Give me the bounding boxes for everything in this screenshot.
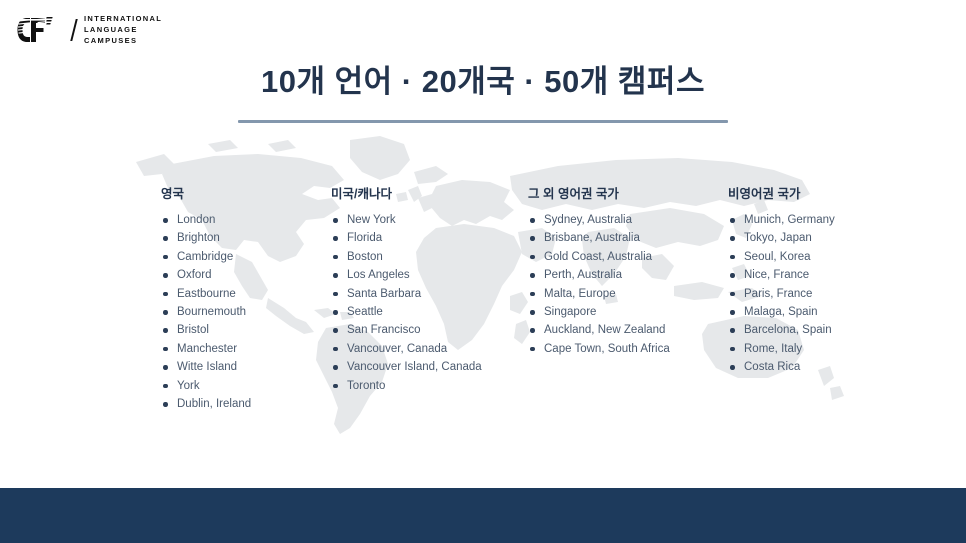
logo-line-3: CAMPUSES: [84, 36, 162, 46]
list-item: Paris, France: [728, 285, 835, 303]
list-item: Cambridge: [161, 248, 251, 266]
campus-column-other-english: 그 외 영어권 국가 Sydney, Australia Brisbane, A…: [528, 186, 670, 358]
list-item: San Francisco: [331, 321, 482, 339]
list-item: Dublin, Ireland: [161, 395, 251, 413]
list-item: London: [161, 211, 251, 229]
list-item: Nice, France: [728, 266, 835, 284]
list-item: Bournemouth: [161, 303, 251, 321]
brand-logo: INTERNATIONAL LANGUAGE CAMPUSES: [16, 12, 162, 48]
title-underline-rule: [238, 120, 728, 123]
list-item: York: [161, 377, 251, 395]
list-item: Brisbane, Australia: [528, 229, 670, 247]
list-item: Manchester: [161, 340, 251, 358]
list-item: Rome, Italy: [728, 340, 835, 358]
list-item: Auckland, New Zealand: [528, 321, 670, 339]
logo-line-1: INTERNATIONAL: [84, 14, 162, 24]
list-item: Brighton: [161, 229, 251, 247]
campus-list: Sydney, Australia Brisbane, Australia Go…: [528, 211, 670, 358]
campus-column-non-english: 비영어권 국가 Munich, Germany Tokyo, Japan Seo…: [728, 186, 835, 377]
campus-list: Munich, Germany Tokyo, Japan Seoul, Kore…: [728, 211, 835, 377]
campus-list: London Brighton Cambridge Oxford Eastbou…: [161, 211, 251, 413]
campus-list: New York Florida Boston Los Angeles Sant…: [331, 211, 482, 395]
list-item: Oxford: [161, 266, 251, 284]
list-item: Florida: [331, 229, 482, 247]
list-item: Vancouver Island, Canada: [331, 358, 482, 376]
list-item: Munich, Germany: [728, 211, 835, 229]
column-heading: 그 외 영어권 국가: [528, 186, 670, 202]
list-item: Singapore: [528, 303, 670, 321]
list-item: Gold Coast, Australia: [528, 248, 670, 266]
list-item: Boston: [331, 248, 482, 266]
column-heading: 영국: [161, 186, 251, 202]
list-item: Eastbourne: [161, 285, 251, 303]
list-item: Bristol: [161, 321, 251, 339]
campus-column-usa-canada: 미국/캐나다 New York Florida Boston Los Angel…: [331, 186, 482, 395]
slide-canvas: INTERNATIONAL LANGUAGE CAMPUSES 10개 언어 ·…: [0, 0, 966, 543]
column-heading: 미국/캐나다: [331, 186, 482, 202]
list-item: Seoul, Korea: [728, 248, 835, 266]
list-item: Santa Barbara: [331, 285, 482, 303]
logo-line-2: LANGUAGE: [84, 25, 162, 35]
campus-column-uk: 영국 London Brighton Cambridge Oxford East…: [161, 186, 251, 413]
ef-monogram-icon: [16, 16, 62, 44]
list-item: Los Angeles: [331, 266, 482, 284]
list-item: Cape Town, South Africa: [528, 340, 670, 358]
list-item: Seattle: [331, 303, 482, 321]
page-title: 10개 언어 · 20개국 · 50개 캠퍼스: [0, 62, 966, 102]
list-item: Barcelona, Spain: [728, 321, 835, 339]
list-item: Malta, Europe: [528, 285, 670, 303]
list-item: Tokyo, Japan: [728, 229, 835, 247]
title-section: 10개 언어 · 20개국 · 50개 캠퍼스: [0, 62, 966, 123]
column-heading: 비영어권 국가: [728, 186, 835, 202]
list-item: Vancouver, Canada: [331, 340, 482, 358]
logo-wordmark: INTERNATIONAL LANGUAGE CAMPUSES: [84, 14, 162, 46]
list-item: Perth, Australia: [528, 266, 670, 284]
list-item: Sydney, Australia: [528, 211, 670, 229]
list-item: Malaga, Spain: [728, 303, 835, 321]
logo-slash-separator: [70, 19, 77, 41]
list-item: New York: [331, 211, 482, 229]
list-item: Costa Rica: [728, 358, 835, 376]
list-item: Witte Island: [161, 358, 251, 376]
footer-bar: [0, 488, 966, 543]
list-item: Toronto: [331, 377, 482, 395]
campus-columns: 영국 London Brighton Cambridge Oxford East…: [0, 186, 966, 426]
